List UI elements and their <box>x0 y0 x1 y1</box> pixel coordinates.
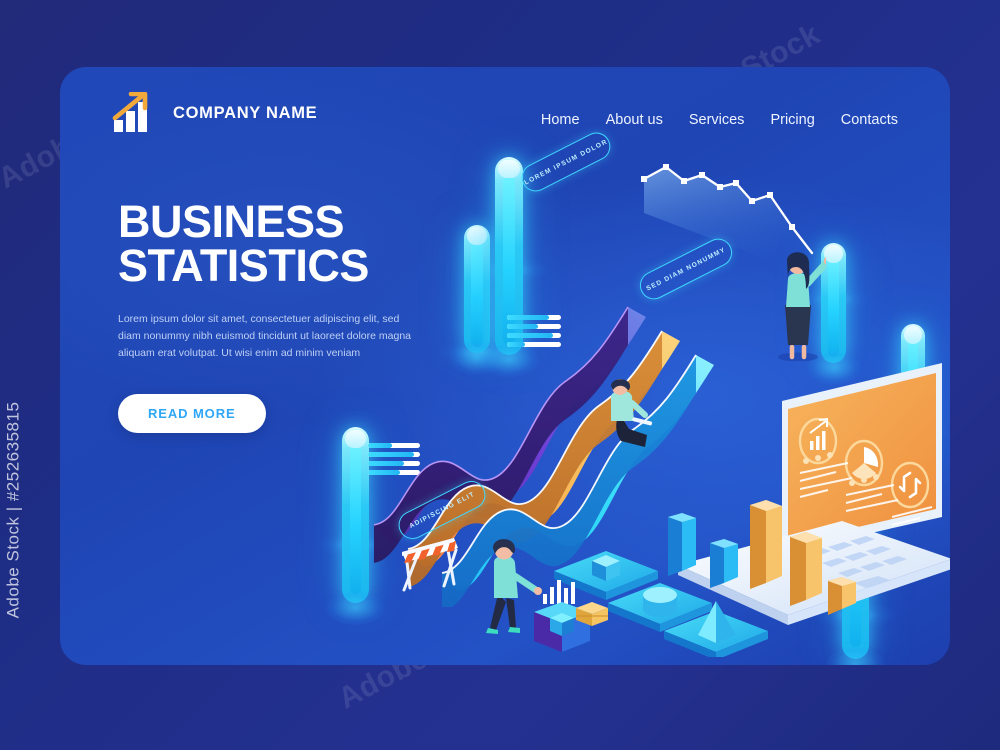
man-pushing-data-cube <box>486 539 542 634</box>
screenshot-root: Adobe Stock Adobe Stock Adobe Stock Adob… <box>0 0 1000 750</box>
landing-page-card: COMPANY NAME Home About us Services Pric… <box>60 67 950 665</box>
woman-pointing-at-chart <box>772 239 826 361</box>
bar-chart-icon <box>543 580 575 604</box>
man-pushing-data-cube-group <box>480 532 620 662</box>
road-barricade <box>396 532 466 598</box>
watermark-side-label: Adobe Stock | #252635815 <box>3 402 23 619</box>
